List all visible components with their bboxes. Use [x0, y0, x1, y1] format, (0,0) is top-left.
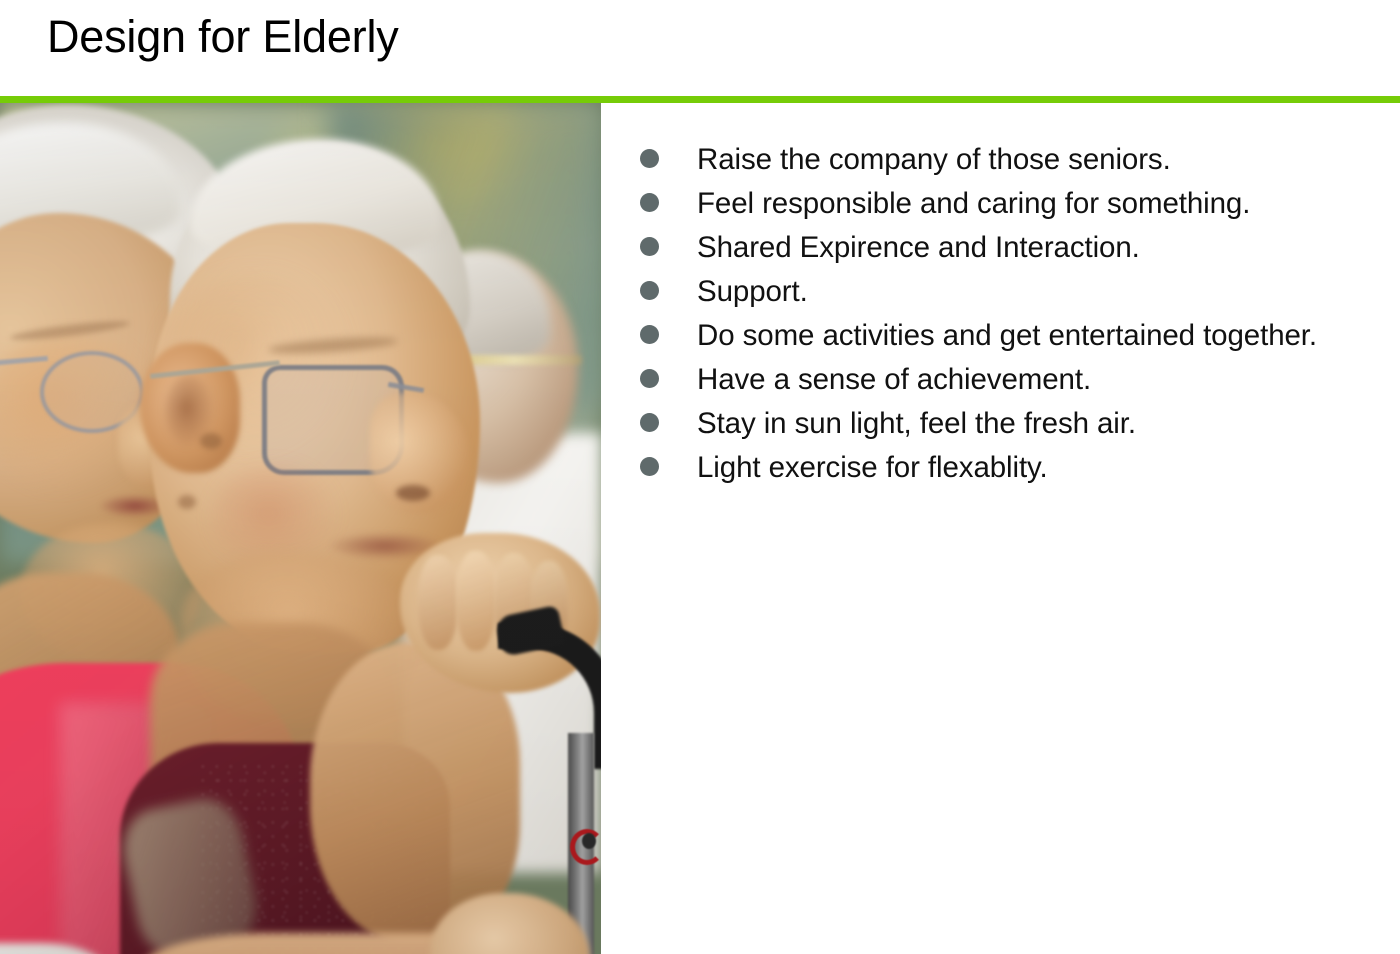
bullet-point-icon — [640, 413, 659, 432]
list-item-label: Have a sense of achievement. — [697, 360, 1380, 400]
list-item: Do some activities and get entertained t… — [640, 316, 1380, 360]
list-item-label: Feel responsible and caring for somethin… — [697, 184, 1380, 224]
title-divider-rule — [0, 96, 1400, 103]
page-title: Design for Elderly — [47, 8, 399, 66]
man-nostril — [396, 485, 430, 501]
man-skin-spot — [200, 433, 222, 449]
presentation-slide: Design for Elderly — [0, 0, 1400, 954]
list-item: Support. — [640, 272, 1380, 316]
bullet-point-icon — [640, 457, 659, 476]
man-skin-spot — [178, 495, 196, 509]
list-item-label: Raise the company of those seniors. — [697, 140, 1380, 180]
list-item-label: Light exercise for flexablity. — [697, 448, 1380, 488]
list-item: Feel responsible and caring for somethin… — [640, 184, 1380, 228]
list-item: Have a sense of achievement. — [640, 360, 1380, 404]
list-item-label: Shared Expirence and Interaction. — [697, 228, 1380, 268]
list-item-label: Support. — [697, 272, 1380, 312]
bullet-list: Raise the company of those seniors. Feel… — [640, 140, 1380, 492]
man-finger — [418, 555, 458, 650]
list-item-label: Do some activities and get entertained t… — [697, 316, 1380, 356]
list-item: Raise the company of those seniors. — [640, 140, 1380, 184]
man-finger — [456, 551, 496, 651]
bullet-point-icon — [640, 237, 659, 256]
bullet-point-icon — [640, 325, 659, 344]
elderly-audience-photo — [0, 103, 601, 954]
list-item-label: Stay in sun light, feel the fresh air. — [697, 404, 1380, 444]
list-item: Stay in sun light, feel the fresh air. — [640, 404, 1380, 448]
bullet-point-icon — [640, 193, 659, 212]
cane-brand-logo-dot-icon — [582, 833, 596, 849]
bullet-point-icon — [640, 281, 659, 300]
list-item: Shared Expirence and Interaction. — [640, 228, 1380, 272]
bullet-point-icon — [640, 149, 659, 168]
list-item: Light exercise for flexablity. — [640, 448, 1380, 492]
bullet-point-icon — [640, 369, 659, 388]
